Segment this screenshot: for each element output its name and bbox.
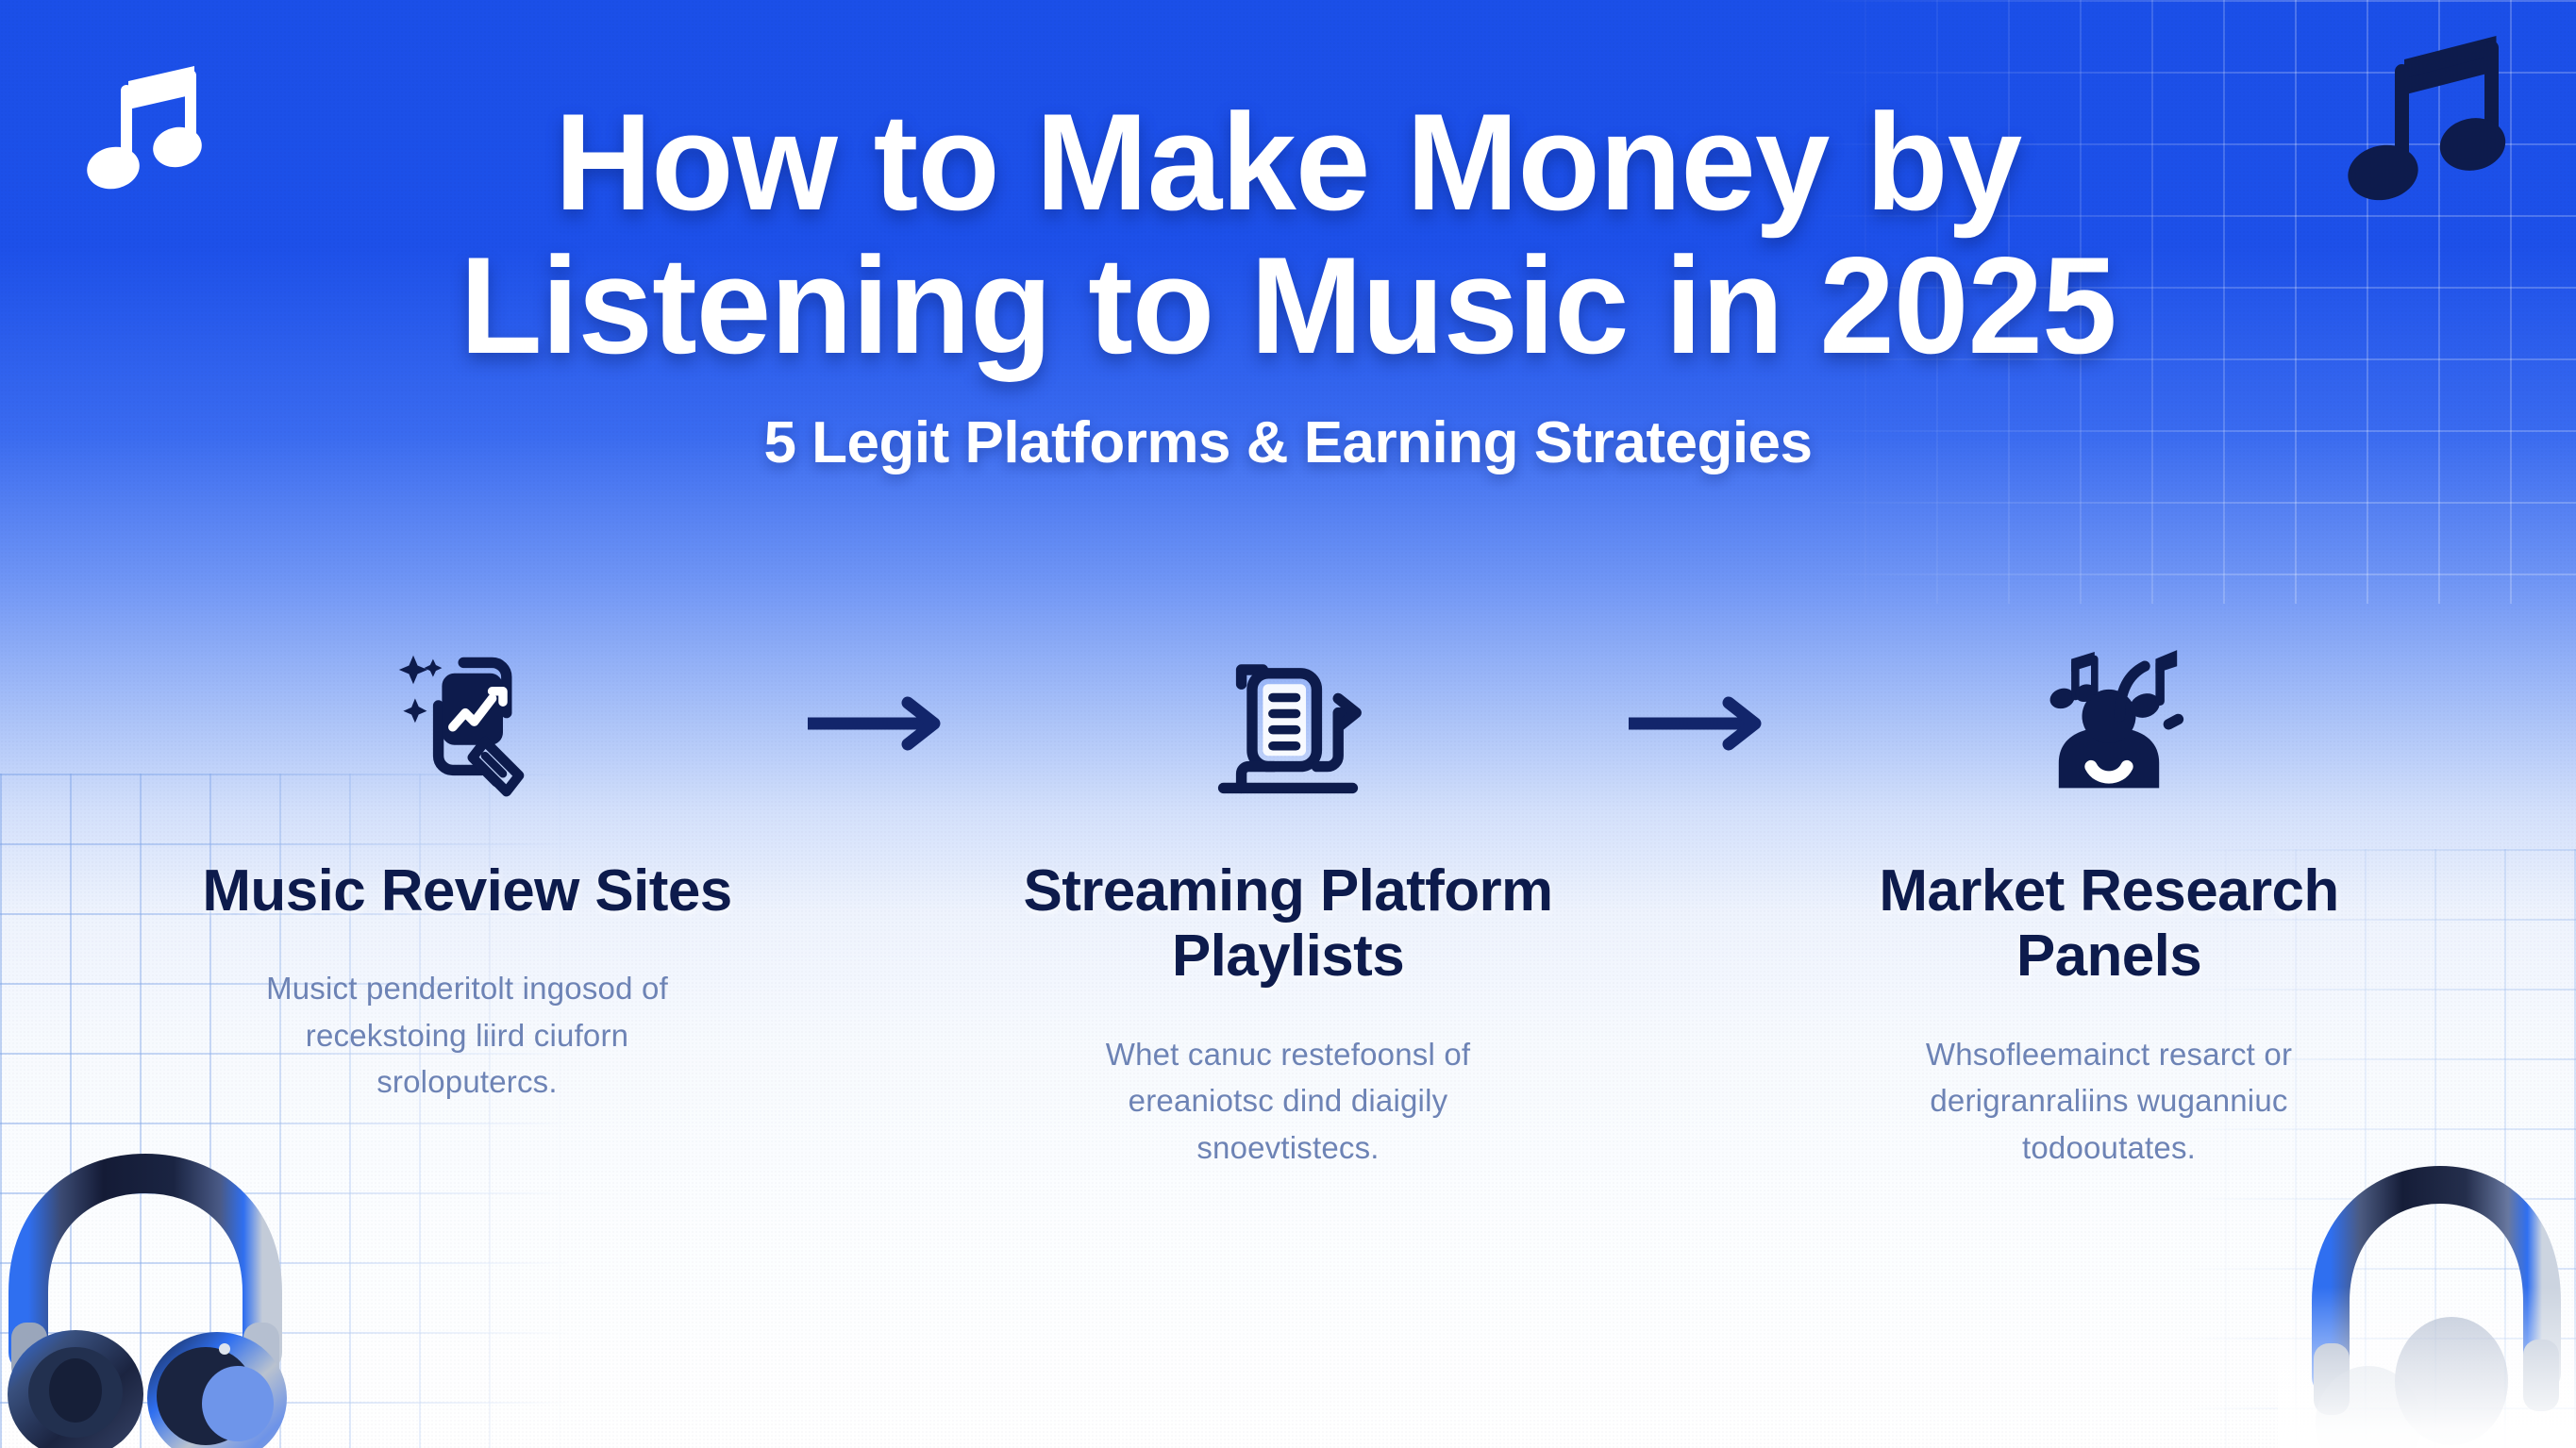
step-card-music-review-sites: Music Review Sites Musict penderitolt in… — [175, 634, 760, 1106]
headphones-image-bottom-left — [0, 1149, 304, 1448]
step-description-line: Whet canuc restefoonsl of — [1106, 1031, 1471, 1078]
step-description-line: Musict penderitolt ingosod of — [266, 965, 668, 1012]
arrow-right-icon — [802, 693, 953, 754]
step-description-line: derigranraliins wuganniuc — [1926, 1077, 2292, 1124]
page-title-line-1: How to Make Money by — [25, 91, 2550, 234]
playlist-stand-icon — [1198, 634, 1378, 813]
step-description: Whsofleemainct resarct or derigranraliin… — [1926, 1031, 2292, 1172]
step-title: Music Review Sites — [202, 858, 731, 924]
step-title: Market Research Panels — [1816, 858, 2401, 990]
step-card-market-research-panels: Market Research Panels Whsofleemainct re… — [1816, 634, 2401, 1171]
steps-row: Music Review Sites Musict penderitolt in… — [0, 634, 2576, 1171]
step-description-line: todooutates. — [1926, 1124, 2292, 1172]
step-description-line: sroloputercs. — [266, 1058, 668, 1106]
step-card-streaming-platform-playlists: Streaming Platform Playlists Whet canuc … — [995, 634, 1581, 1171]
page-subtitle: 5 Legit Platforms & Earning Strategies — [0, 409, 2576, 476]
header: How to Make Money by Listening to Music … — [0, 0, 2576, 476]
step-description-line: ereaniotsc dind diaigily — [1106, 1077, 1471, 1124]
listener-music-notes-icon — [2019, 634, 2199, 813]
review-card-chart-pen-icon — [377, 634, 557, 813]
step-description: Musict penderitolt ingosod of recekstoin… — [266, 965, 668, 1106]
headphones-image-bottom-right — [2278, 1155, 2576, 1448]
step-description-line: Whsofleemainct resarct or — [1926, 1031, 2292, 1078]
connector-arrow-2 — [1581, 634, 1816, 813]
music-note-icon-top-left — [87, 58, 211, 205]
step-description: Whet canuc restefoonsl of ereaniotsc din… — [1106, 1031, 1471, 1172]
step-description-line: snoevtistecs. — [1106, 1124, 1471, 1172]
step-description-line: recekstoing liird ciuforn — [266, 1012, 668, 1059]
connector-arrow-1 — [760, 634, 995, 813]
page-title: How to Make Money by Listening to Music … — [25, 91, 2550, 377]
step-title: Streaming Platform Playlists — [995, 858, 1581, 990]
page-title-line-2: Listening to Music in 2025 — [25, 234, 2550, 377]
arrow-right-icon — [1623, 693, 1774, 754]
music-note-icon-top-right — [2348, 26, 2517, 220]
